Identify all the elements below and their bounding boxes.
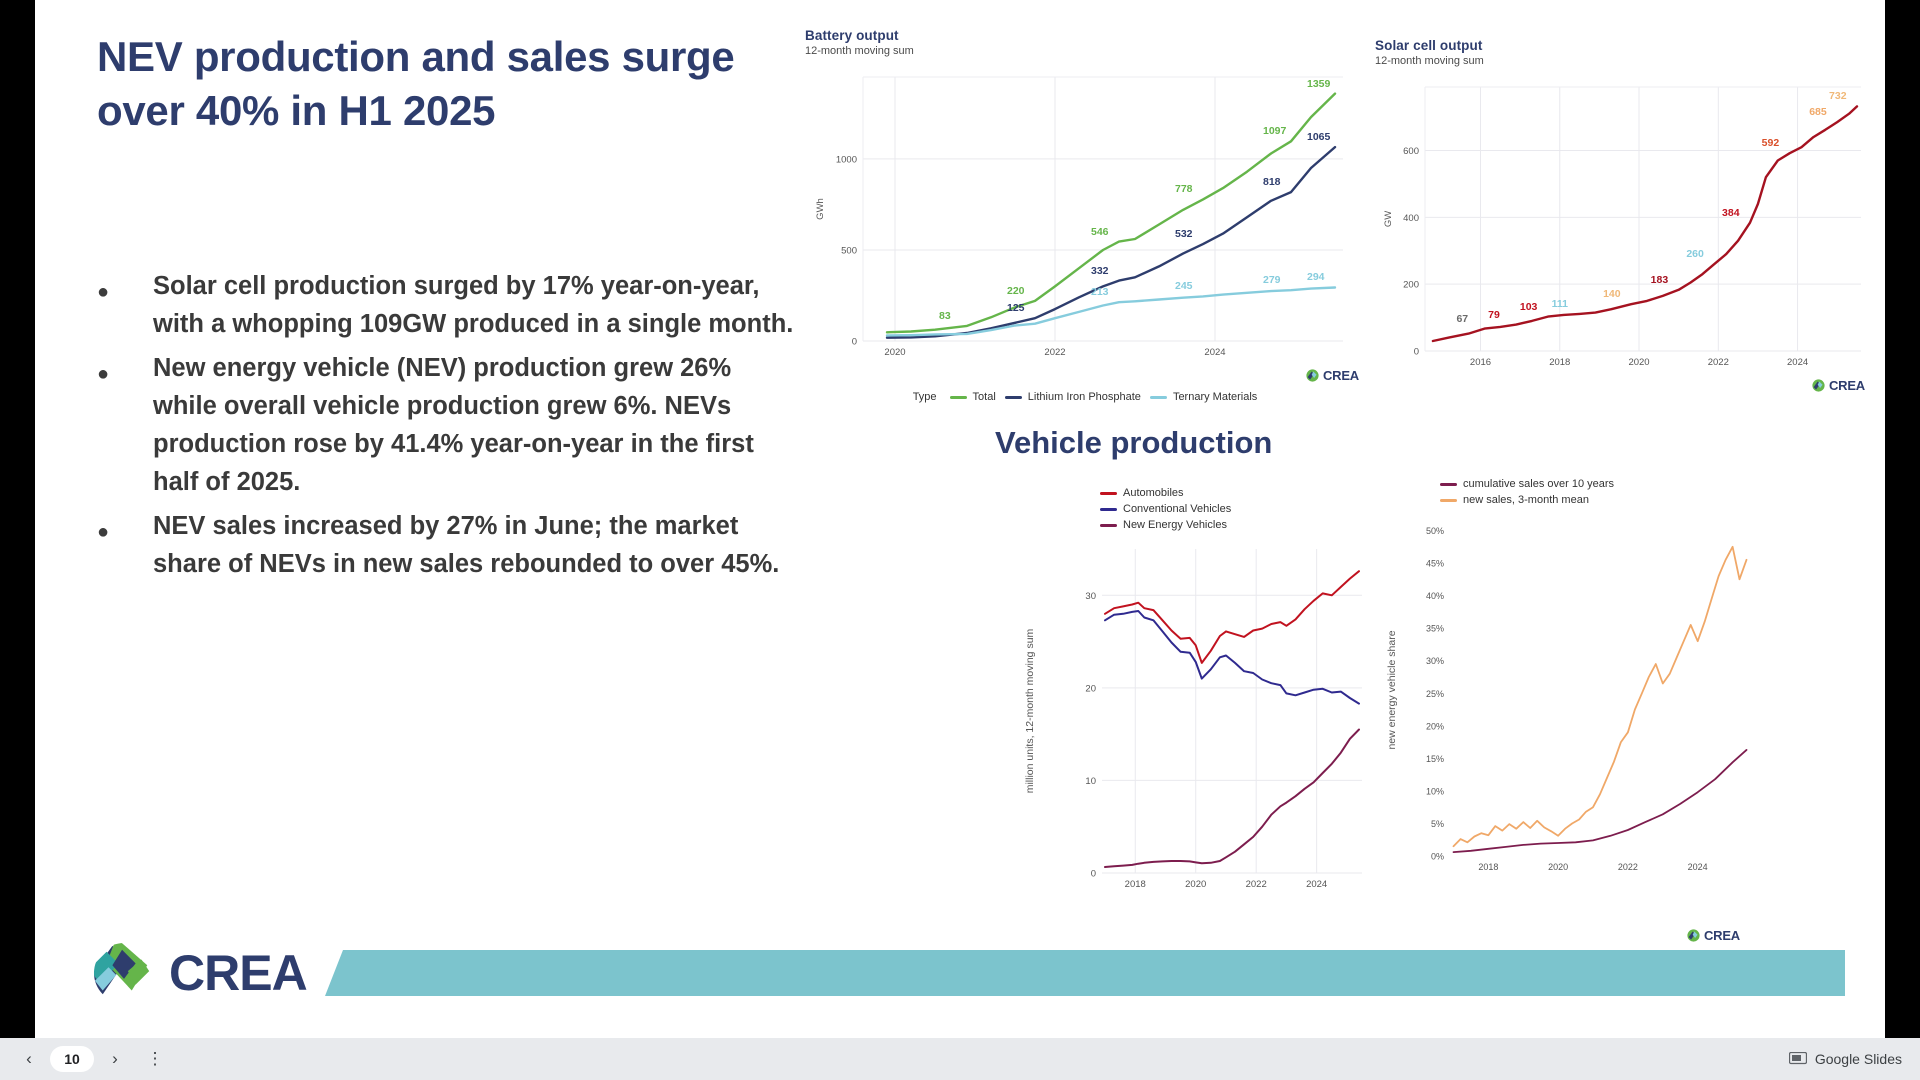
y-tick-label: 400 [1403,213,1419,224]
y-axis-label: GW [1383,211,1394,227]
y-tick-label: 45% [1426,559,1444,569]
legend-item[interactable]: cumulative sales over 10 years [1440,478,1760,490]
plot-area: 020040060020162018202020222024GW67791031… [1375,79,1875,379]
bullet-marker: ● [97,350,153,384]
crea-label: CREA [1704,928,1740,943]
list-item: ● NEV sales increased by 27% in June; th… [97,508,797,584]
data-label: 140 [1603,288,1621,300]
chart-svg: 01020302018202020222024 [1010,539,1370,899]
data-label: 245 [1175,280,1193,292]
google-slides-badge[interactable]: Google Slides [1789,1051,1902,1067]
x-tick-label: 2024 [1688,862,1708,872]
data-label: 532 [1175,228,1193,240]
bullet-text: NEV sales increased by 27% in June; the … [153,508,797,584]
y-axis-label: new energy vehicle share [1386,630,1398,749]
y-tick-label: 0 [1414,347,1419,358]
y-tick-label: 500 [841,245,857,256]
x-tick-label: 2022 [1618,862,1638,872]
google-slides-label: Google Slides [1815,1051,1902,1067]
list-item: ● New energy vehicle (NEV) production gr… [97,350,797,502]
next-slide-button[interactable]: › [98,1042,132,1076]
chart-title: Battery output [805,28,1365,43]
plot-area: 01020302018202020222024million units, 12… [1010,539,1370,899]
legend-item[interactable]: Lithium Iron Phosphate [1005,391,1141,403]
crea-logo-icon [1687,929,1700,942]
plot-area: 05001000202020222024GWh83220546778109713… [805,69,1365,369]
legend-item[interactable]: Total [950,391,996,403]
data-label: 732 [1829,90,1847,102]
legend-label: new sales, 3-month mean [1463,494,1589,506]
data-label: 67 [1456,313,1468,325]
x-tick-label: 2020 [1185,879,1206,890]
x-tick-label: 2024 [1306,879,1327,890]
data-label: 79 [1488,309,1500,321]
series-line [1105,730,1359,868]
legend-swatch [1100,492,1117,495]
slide-number[interactable]: 10 [50,1046,94,1072]
chart-legend: TypeTotalLithium Iron PhosphateTernary M… [805,391,1365,403]
crea-watermark: CREA [1687,928,1740,943]
y-tick-label: 5% [1431,819,1444,829]
y-tick-label: 30 [1085,591,1096,602]
bullet-text: New energy vehicle (NEV) production grew… [153,350,797,502]
x-tick-label: 2018 [1125,879,1146,890]
legend-label: Lithium Iron Phosphate [1028,391,1141,403]
bullet-text: Solar cell production surged by 17% year… [153,268,797,344]
legend-label: Total [973,391,996,403]
y-tick-label: 40% [1426,591,1444,601]
data-label: 279 [1263,274,1281,286]
legend-swatch [1440,499,1457,502]
y-tick-label: 15% [1426,754,1444,764]
data-label: 1359 [1307,78,1330,90]
legend-swatch [1100,524,1117,527]
y-axis-label: GWh [815,198,826,220]
x-tick-label: 2020 [884,347,905,358]
crea-logo-icon [93,942,155,1004]
more-options-button[interactable]: ⋮ [138,1042,172,1076]
legend-item[interactable]: Automobiles [1100,487,1370,499]
page-title: NEV production and sales surge over 40% … [97,30,757,138]
crea-logo: CREA [93,942,307,1004]
y-axis-label: million units, 12-month moving sum [1024,629,1036,794]
x-tick-label: 2020 [1628,357,1649,368]
legend-item[interactable]: New Energy Vehicles [1100,519,1370,531]
data-label: 183 [1651,274,1669,286]
data-label: 332 [1091,265,1109,277]
data-label: 818 [1263,176,1281,188]
legend-swatch [950,396,967,399]
crea-logo-icon [1812,379,1825,392]
legend-label: cumulative sales over 10 years [1463,478,1614,490]
y-tick-label: 30% [1426,656,1444,666]
chart-svg: 020040060020162018202020222024 [1375,79,1875,379]
y-tick-label: 10 [1085,776,1096,787]
x-tick-label: 2022 [1044,347,1065,358]
present-icon [1789,1052,1807,1066]
data-label: 125 [1007,302,1025,314]
chart-svg: 0%5%10%15%20%25%30%35%40%45%50%201820202… [1380,512,1760,882]
crea-logo-icon [1306,369,1319,382]
data-label: 384 [1722,207,1740,219]
data-label: 1065 [1307,131,1330,143]
legend-item[interactable]: new sales, 3-month mean [1440,494,1760,506]
series-line [1454,750,1747,852]
chart-legend: cumulative sales over 10 yearsnew sales,… [1440,478,1760,506]
series-line [1105,611,1359,704]
y-tick-label: 200 [1403,280,1419,291]
legend-title: Type [913,391,937,403]
y-tick-label: 35% [1426,624,1444,634]
data-label: 1097 [1263,125,1286,137]
legend-swatch [1100,508,1117,511]
data-label: 778 [1175,183,1193,195]
bullet-list: ● Solar cell production surged by 17% ye… [97,268,797,590]
legend-swatch [1150,396,1167,399]
data-label: 294 [1307,271,1325,283]
legend-label: Conventional Vehicles [1123,503,1231,515]
data-label: 213 [1091,286,1109,298]
chart-legend: AutomobilesConventional VehiclesNew Ener… [1100,487,1370,531]
chart-nev-share: cumulative sales over 10 yearsnew sales,… [1380,478,1760,948]
data-label: 260 [1686,248,1704,260]
x-tick-label: 2022 [1708,357,1729,368]
legend-item[interactable]: Ternary Materials [1150,391,1257,403]
data-label: 220 [1007,285,1025,297]
y-tick-label: 0 [1091,869,1096,880]
legend-item[interactable]: Conventional Vehicles [1100,503,1370,515]
data-label: 103 [1520,301,1538,313]
footer-band [325,950,1845,996]
chart-title: Solar cell output [1375,38,1875,53]
legend-label: Ternary Materials [1173,391,1257,403]
slide-canvas: NEV production and sales surge over 40% … [35,0,1885,1040]
x-tick-label: 2024 [1787,357,1808,368]
bullet-marker: ● [97,268,153,302]
y-tick-label: 0 [852,337,857,348]
x-tick-label: 2020 [1548,862,1568,872]
y-tick-label: 600 [1403,146,1419,157]
data-label: 546 [1091,226,1109,238]
section-title: Vehicle production [995,425,1272,461]
data-label: 592 [1762,137,1780,149]
y-tick-label: 0% [1431,852,1444,862]
legend-label: Automobiles [1123,487,1184,499]
crea-label: CREA [1829,378,1865,393]
x-tick-label: 2024 [1204,347,1225,358]
y-tick-label: 25% [1426,689,1444,699]
data-label: 83 [939,310,951,322]
chart-solar-cell-output: Solar cell output 12-month moving sum 02… [1375,38,1875,408]
data-label: 111 [1552,298,1568,310]
series-line [1433,106,1857,341]
screen: NEV production and sales surge over 40% … [0,0,1920,1080]
chart-subtitle: 12-month moving sum [1375,55,1875,67]
bullet-marker: ● [97,508,153,542]
legend-swatch [1440,483,1457,486]
chart-subtitle: 12-month moving sum [805,45,1365,57]
legend-swatch [1005,396,1022,399]
legend-label: New Energy Vehicles [1123,519,1227,531]
plot-area: 0%5%10%15%20%25%30%35%40%45%50%201820202… [1380,512,1760,882]
crea-wordmark: CREA [169,944,307,1002]
crea-watermark: CREA [1306,368,1359,383]
chart-svg: 05001000202020222024 [805,69,1365,369]
y-tick-label: 1000 [836,154,857,165]
list-item: ● Solar cell production surged by 17% ye… [97,268,797,344]
chart-vehicle-production: AutomobilesConventional VehiclesNew Ener… [1010,487,1370,947]
app-bottom-bar: ‹ 10 › ⋮ Google Slides [0,1038,1920,1080]
x-tick-label: 2016 [1470,357,1491,368]
crea-label: CREA [1323,368,1359,383]
prev-slide-button[interactable]: ‹ [12,1042,46,1076]
data-label: 685 [1809,106,1827,118]
x-tick-label: 2018 [1549,357,1570,368]
y-tick-label: 50% [1426,526,1444,536]
x-tick-label: 2018 [1478,862,1498,872]
y-tick-label: 20 [1085,683,1096,694]
chart-battery-output: Battery output 12-month moving sum 05001… [805,28,1365,408]
y-tick-label: 10% [1426,786,1444,796]
x-tick-label: 2022 [1246,879,1267,890]
series-line [1454,547,1747,846]
crea-watermark: CREA [1812,378,1865,393]
y-tick-label: 20% [1426,721,1444,731]
